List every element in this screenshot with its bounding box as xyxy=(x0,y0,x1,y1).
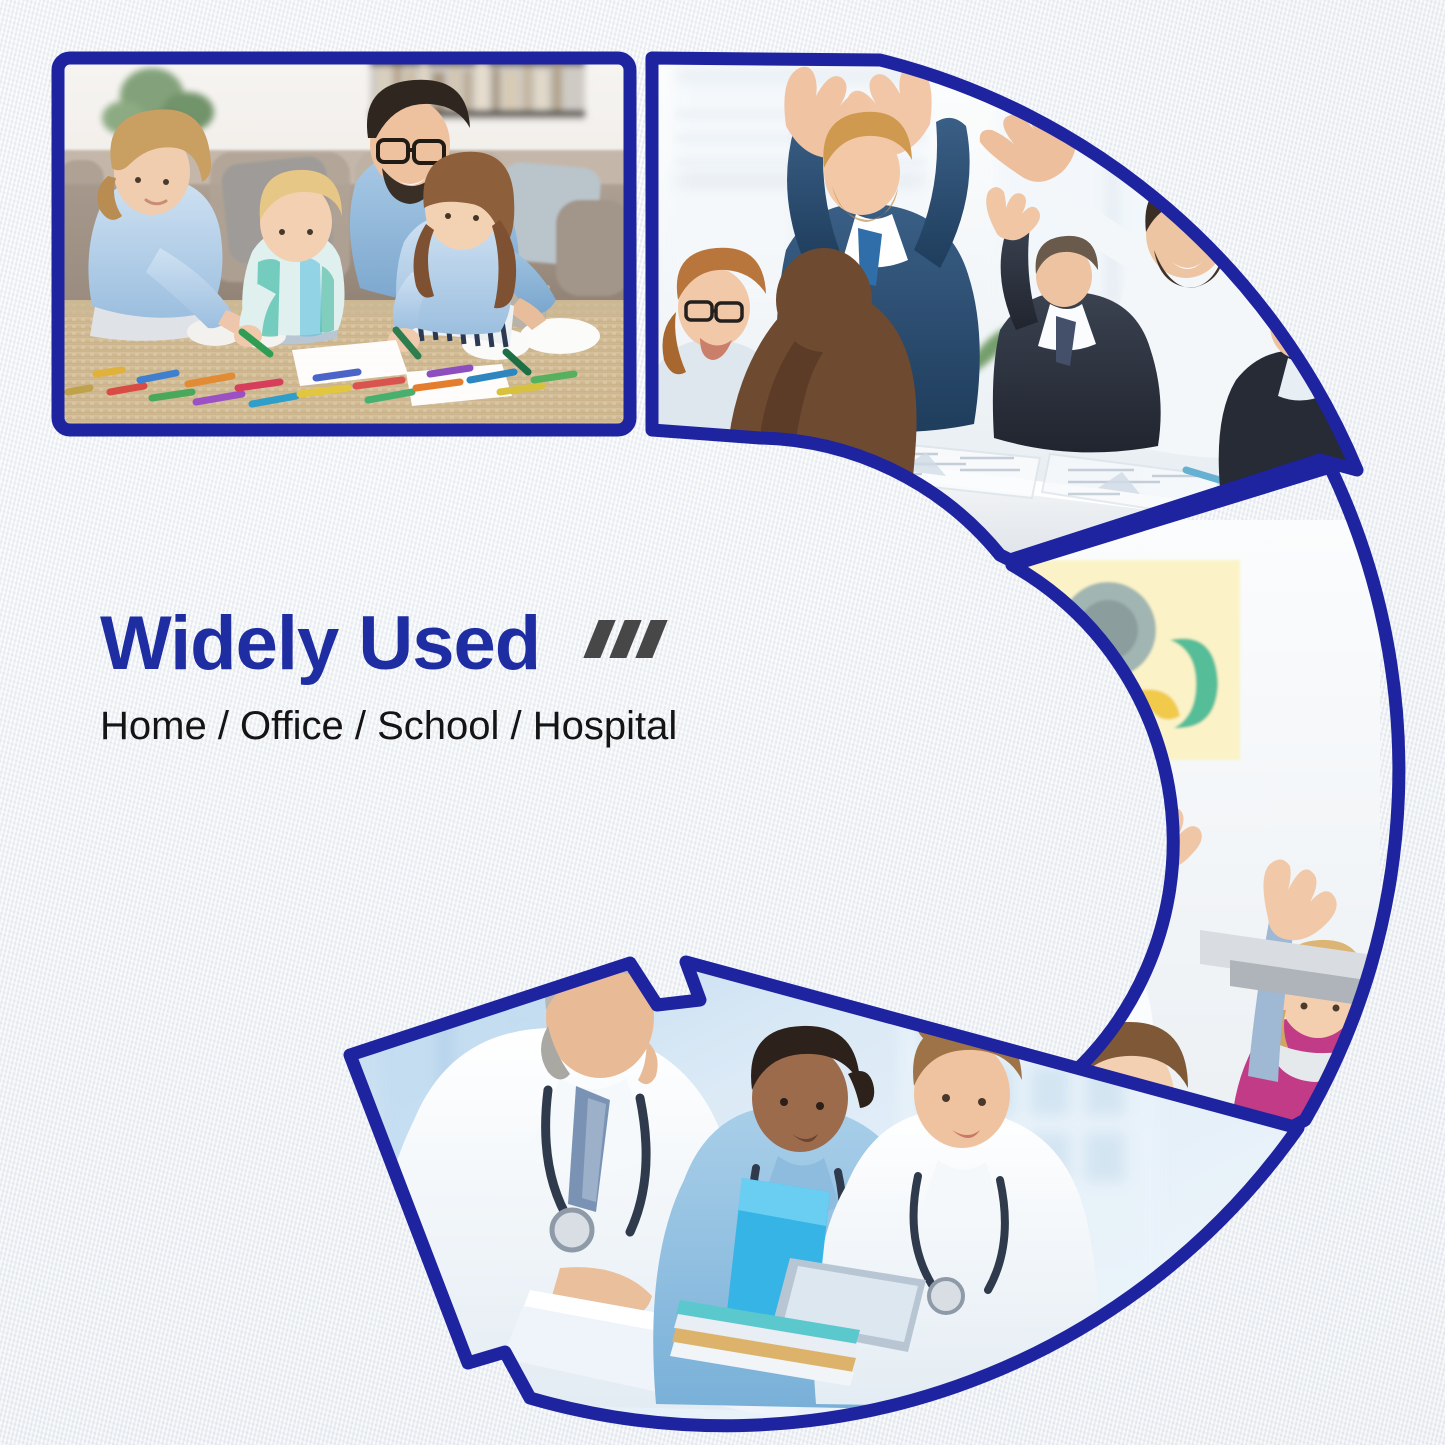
collage-stage: Widely Used Home / Office / School / Hos… xyxy=(0,0,1445,1445)
slash-marks-icon xyxy=(591,620,669,663)
page-title: Widely Used xyxy=(100,606,540,682)
collage-panel-office[interactable] xyxy=(640,40,1380,590)
heading-block: Widely Used Home / Office / School / Hos… xyxy=(100,606,800,749)
collage-panel-home[interactable] xyxy=(58,58,630,430)
page-subtitle: Home / Office / School / Hospital xyxy=(100,704,800,749)
